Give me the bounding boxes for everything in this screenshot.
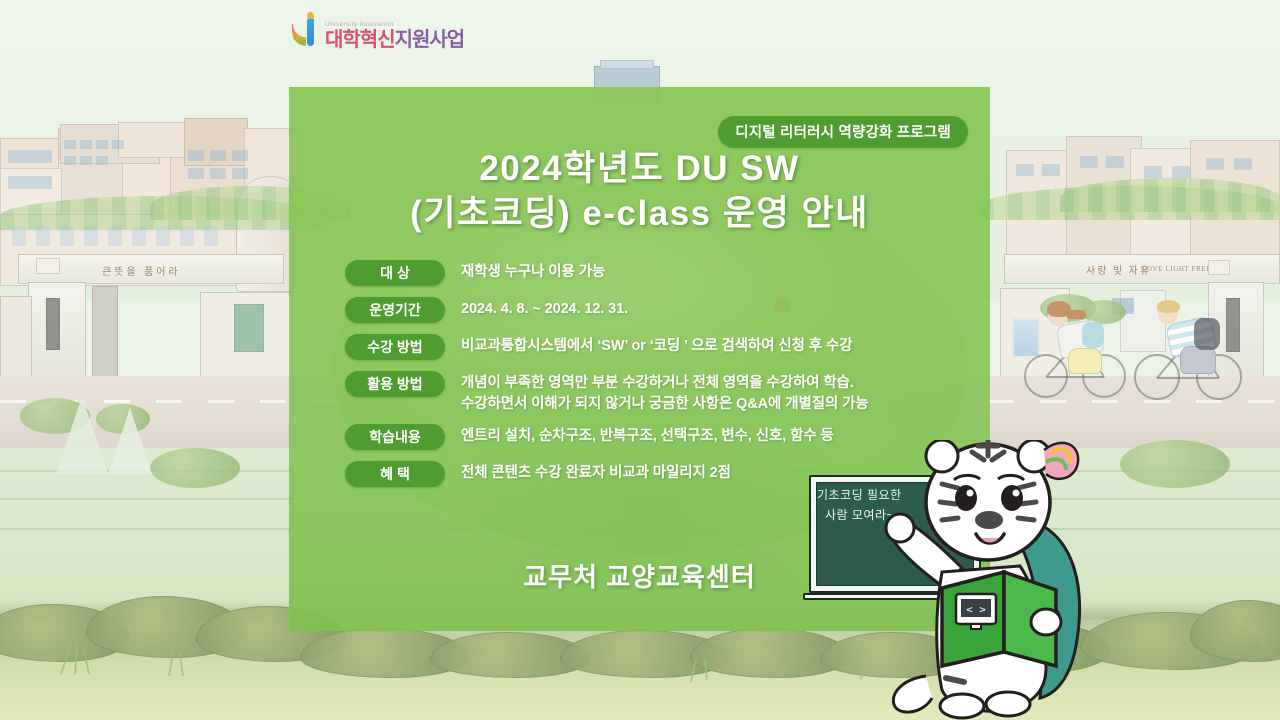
window	[232, 168, 248, 179]
window	[8, 176, 52, 189]
window	[210, 168, 226, 179]
info-value-usage-line1: 개념이 부족한 영역만 부분 수강하거나 전체 영역을 수강하여 학습.	[461, 373, 869, 394]
info-row-usage-method: 활용 방법 개념이 부족한 영역만 부분 수강하거나 전체 영역을 수강하여 학…	[345, 371, 970, 415]
mascot-tail	[893, 676, 932, 712]
window	[1042, 164, 1060, 176]
conifer-tree	[56, 396, 108, 474]
logo-u-dot	[307, 12, 314, 19]
info-label-period: 운영기간	[345, 297, 445, 323]
window	[96, 156, 108, 165]
rider-ponytail	[1066, 310, 1086, 319]
window	[1144, 166, 1162, 178]
info-value-usage-method: 개념이 부족한 영역만 부분 수강하거나 전체 영역을 수강하여 학습. 수강하…	[461, 371, 869, 415]
info-label-benefit: 혜 택	[345, 461, 445, 487]
window	[1080, 156, 1098, 168]
window	[1234, 158, 1252, 170]
mascot-eye-highlight	[1013, 490, 1020, 497]
mascot-paw-left	[886, 514, 914, 542]
mascot-eye-right	[1001, 485, 1023, 511]
info-label-enrollment-method: 수강 방법	[345, 334, 445, 360]
window	[96, 140, 108, 149]
window	[1106, 156, 1124, 168]
page-title: 2024학년도 DU SW (기초코딩) e-class 운영 안내	[289, 147, 990, 237]
rider-legs	[1180, 346, 1216, 374]
shrub	[1120, 440, 1230, 488]
u-logo-icon	[292, 16, 320, 50]
info-value-benefit: 전체 콘텐츠 수강 완료자 비교과 마일리지 2점	[461, 461, 731, 484]
window	[8, 150, 52, 163]
cyclist-male	[1132, 292, 1256, 404]
info-row-period: 운영기간 2024. 4. 8. ~ 2024. 12. 31.	[345, 297, 970, 323]
info-row-curriculum: 학습내용 엔트리 설치, 순차구조, 반복구조, 선택구조, 변수, 신호, 함…	[345, 424, 970, 450]
left-gate-wall	[0, 296, 32, 380]
info-value-usage-line2: 수강하면서 이해가 되지 않거나 궁금한 사항은 Q&A에 개별질의 가능	[461, 394, 869, 415]
backpack	[1082, 322, 1104, 348]
bike-frame	[1157, 377, 1219, 379]
bike-frame	[1046, 376, 1104, 378]
info-label-curriculum: 학습내용	[345, 424, 445, 450]
backpack	[1194, 318, 1220, 350]
conifer-tree	[108, 408, 152, 474]
mascot-stripe	[946, 678, 964, 682]
mascot-foot	[986, 692, 1030, 716]
mascot-ear-left	[926, 440, 958, 472]
info-value-period: 2024. 4. 8. ~ 2024. 12. 31.	[461, 297, 628, 320]
tree-band	[1060, 178, 1280, 212]
info-value-target: 재학생 누구나 이용 가능	[461, 260, 605, 283]
info-value-curriculum: 엔트리 설치, 순차구조, 반복구조, 선택구조, 변수, 신호, 함수 등	[461, 424, 834, 447]
monitor-stand	[971, 624, 981, 629]
logo-u-right-stroke	[307, 18, 314, 46]
mascot-paw-right	[1031, 609, 1061, 635]
window	[80, 140, 92, 149]
window	[64, 140, 76, 149]
rider-hair	[1157, 300, 1180, 313]
info-row-enrollment-method: 수강 방법 비교과통합시스템에서 ‘SW’ or ‘코딩 ’ 으로 검색하여 신…	[345, 334, 970, 360]
window	[1172, 166, 1190, 178]
building	[118, 122, 188, 158]
window	[232, 150, 248, 161]
title-line-1: 2024학년도 DU SW	[289, 147, 990, 191]
window	[210, 150, 226, 161]
university-innovation-logo: University Innovation 대학혁신지원사업	[292, 16, 464, 50]
info-row-target: 대 상 재학생 누구나 이용 가능	[345, 260, 970, 286]
mascot-foot	[940, 694, 984, 718]
window	[188, 150, 204, 161]
info-label-usage-method: 활용 방법	[345, 371, 445, 397]
mascot-nose	[975, 511, 1003, 529]
logo-u-left-stroke	[292, 24, 306, 46]
logo-korean-part2: 지원사업	[395, 29, 465, 51]
left-gate-text: 큰뜻을 품어라	[102, 263, 181, 278]
gate-booth	[234, 304, 264, 352]
window	[64, 156, 76, 165]
program-badge: 디지털 리터러시 역량강화 프로그램	[718, 116, 968, 148]
window	[80, 156, 92, 165]
window	[1206, 158, 1224, 170]
logo-korean-text: 대학혁신지원사업	[325, 30, 464, 50]
rider-legs	[1068, 348, 1102, 374]
window	[112, 140, 124, 149]
cyclist-female	[1020, 292, 1140, 402]
logo-text-block: University Innovation 대학혁신지원사업	[325, 22, 464, 51]
info-label-target: 대 상	[345, 260, 445, 286]
gate-sign-box	[36, 258, 60, 274]
shrub	[150, 448, 240, 488]
info-value-enrollment-method: 비교과통합시스템에서 ‘SW’ or ‘코딩 ’ 으로 검색하여 신청 후 수강	[461, 334, 852, 357]
building-central	[600, 60, 654, 69]
title-line-2: (기초코딩) e-class 운영 안내	[289, 191, 990, 237]
mascot-illustration: < >	[880, 440, 1110, 720]
logo-english-text: University Innovation	[325, 22, 464, 29]
mascot-eye-highlight	[967, 490, 974, 497]
info-list: 대 상 재학생 누구나 이용 가능 운영기간 2024. 4. 8. ~ 202…	[345, 260, 970, 498]
logo-korean-part1: 대학혁신	[325, 29, 395, 51]
mascot-eye-left	[955, 485, 977, 511]
white-tiger-mascot: < >	[880, 440, 1110, 720]
window	[1016, 164, 1034, 176]
gate-plaque	[46, 298, 60, 350]
left-gate-pillar	[92, 286, 118, 378]
monitor-code-glyph: < >	[966, 603, 986, 616]
gate-sign-box	[1208, 260, 1230, 275]
window	[188, 168, 204, 179]
